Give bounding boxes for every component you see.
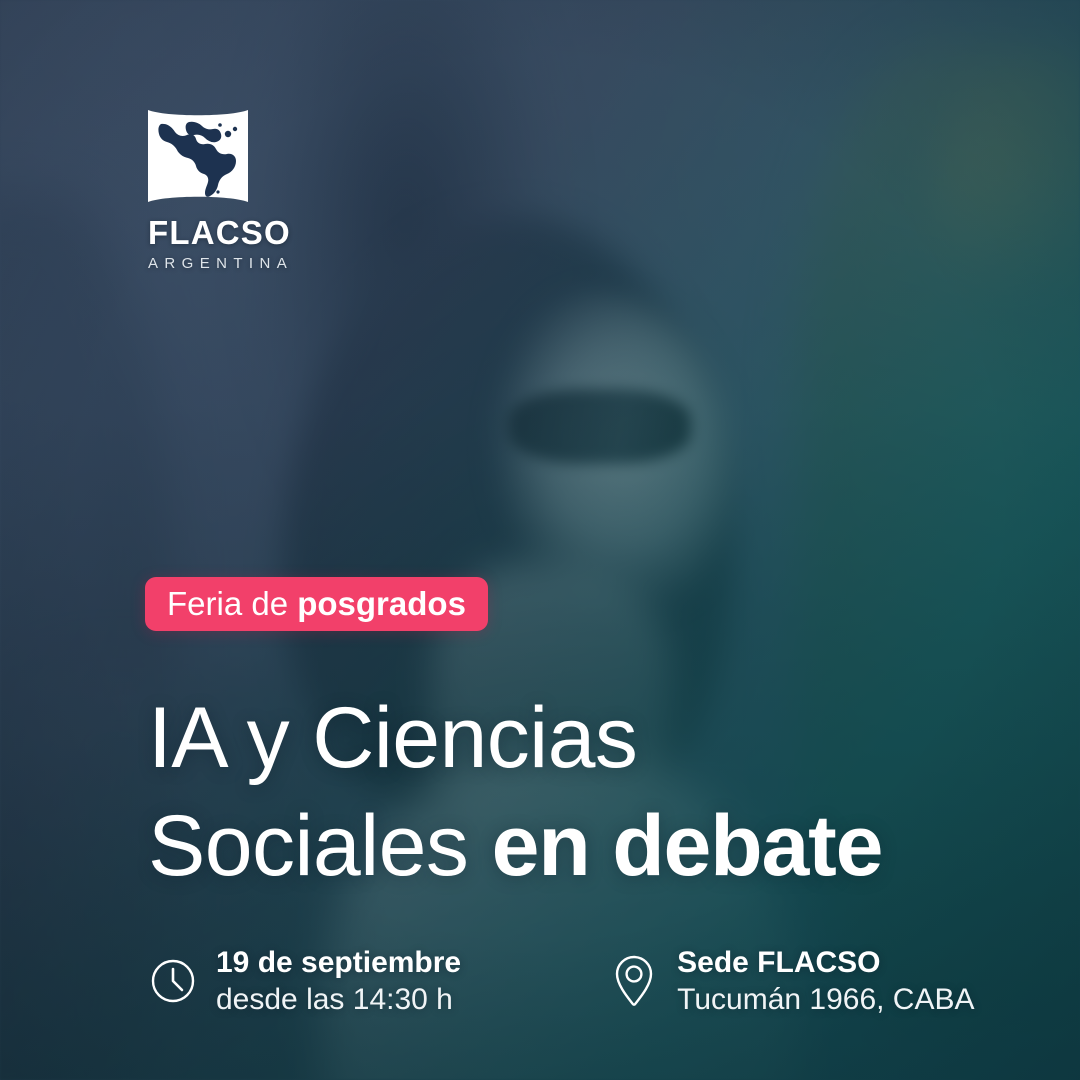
headline-line-1-text: IA y Ciencias <box>148 690 637 786</box>
event-location-secondary: Tucumán 1966, CABA <box>677 981 974 1018</box>
event-location-primary: Sede FLACSO <box>677 944 974 981</box>
headline-line-2: Sociales en debate <box>148 792 1028 900</box>
map-pin-icon <box>609 953 659 1009</box>
event-date-text: 19 de septiembre desde las 14:30 h <box>216 944 461 1018</box>
headline: IA y Ciencias Sociales en debate <box>148 684 1028 900</box>
badge-label: Feria de posgrados <box>167 587 466 620</box>
headline-line-2-bold: en debate <box>492 798 883 894</box>
flacso-subtitle: ARGENTINA <box>148 256 408 271</box>
headline-line-1: IA y Ciencias <box>148 684 1028 792</box>
event-type-badge: Feria de posgrados <box>145 577 488 631</box>
latin-america-map-mark-icon <box>148 110 248 202</box>
event-location-block: Sede FLACSO Tucumán 1966, CABA <box>609 944 974 1018</box>
event-location-text: Sede FLACSO Tucumán 1966, CABA <box>677 944 974 1018</box>
event-date-secondary: desde las 14:30 h <box>216 981 461 1018</box>
badge-label-regular: Feria de <box>167 585 297 622</box>
badge-label-bold: posgrados <box>297 585 466 622</box>
flacso-wordmark: FLACSO <box>148 216 408 249</box>
event-date-primary: 19 de septiembre <box>216 944 461 981</box>
poster-content: FLACSO ARGENTINA Feria de posgrados IA y… <box>0 0 1080 1080</box>
flacso-logo: FLACSO ARGENTINA <box>148 110 408 271</box>
clock-icon <box>148 953 198 1009</box>
poster-canvas: FLACSO ARGENTINA Feria de posgrados IA y… <box>0 0 1080 1080</box>
event-details: 19 de septiembre desde las 14:30 h Sede … <box>148 944 975 1018</box>
headline-line-2-light: Sociales <box>148 798 492 894</box>
event-date-block: 19 de septiembre desde las 14:30 h <box>148 944 461 1018</box>
